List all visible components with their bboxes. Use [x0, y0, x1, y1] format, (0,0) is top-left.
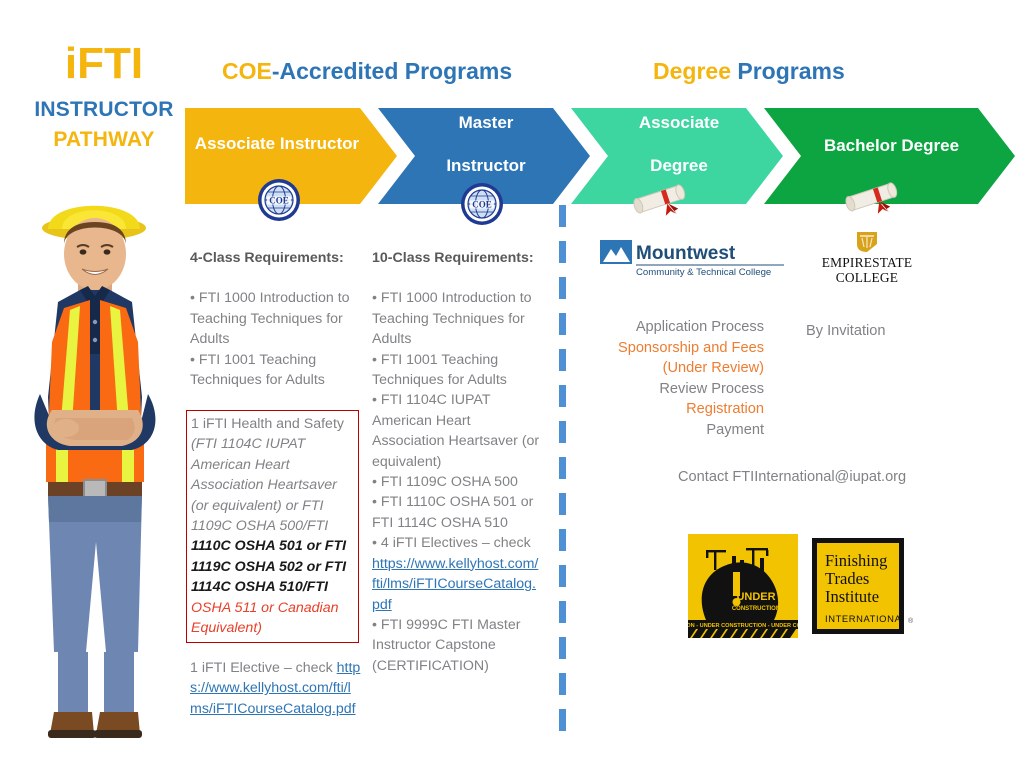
callout-red-segment: OSHA 511 or Canadian Equivalent) — [191, 600, 338, 636]
process-step: Sponsorship and Fees — [572, 338, 764, 359]
under-construction-badge: UNDER CONSTRUCTION CTION - UNDER CONSTRU… — [688, 534, 798, 638]
pathway-step-label: Associate Instructor — [189, 133, 365, 154]
process-step: (Under Review) — [572, 358, 764, 379]
section-title-coe: COE-Accredited Programs — [222, 58, 512, 85]
svg-text:COLLEGE: COLLEGE — [836, 270, 898, 285]
column-heading: 4-Class Requirements: — [190, 248, 360, 268]
brand-subtitle-instructor: INSTRUCTOR — [0, 98, 208, 122]
fti-line4: INTERNATIONAL — [825, 613, 904, 624]
course-catalog-link[interactable]: https://www.kellyhost.com/fti/lms/iFTICo… — [372, 556, 538, 613]
process-step: Payment — [572, 420, 764, 441]
svg-text:Mountwest: Mountwest — [636, 243, 736, 264]
svg-text:UNDER: UNDER — [736, 591, 775, 603]
callout-bold-segment: 1110C OSHA 501 or FTI 1119C OSHA 502 or … — [191, 538, 346, 595]
requirement-item: • FTI 1000 Introduction to Teaching Tech… — [190, 288, 360, 349]
requirement-item: • FTI 1109C OSHA 500 — [372, 472, 542, 492]
fti-line3: Institute — [825, 587, 879, 606]
column-heading: 10-Class Requirements: — [372, 248, 542, 268]
fti-line2: Trades — [825, 569, 869, 588]
finishing-trades-institute-logo: Finishing Trades Institute INTERNATIONAL — [812, 538, 904, 634]
column-4-class-requirements: 4-Class Requirements: • FTI 1000 Introdu… — [190, 248, 360, 390]
brand-title: iFTI — [0, 42, 208, 86]
svg-text:CONSTRUCTION: CONSTRUCTION — [732, 606, 780, 612]
section-title-degree-accent: Degree — [653, 58, 731, 84]
column-left-elective-note: 1 iFTI Elective – check https://www.kell… — [190, 658, 362, 719]
coe-seal-icon: COE — [460, 182, 504, 226]
svg-text:EMPIRESTATE: EMPIRESTATE — [822, 255, 912, 270]
brand-subtitle-pathway: PATHWAY — [0, 128, 208, 152]
process-step: Review Process — [572, 379, 764, 400]
diploma-scroll-icon — [842, 174, 900, 218]
svg-text:CTION - UNDER CONSTRUCTION - U: CTION - UNDER CONSTRUCTION - UNDER CONS — [688, 623, 798, 629]
requirement-item: • FTI 1104C IUPAT American Heart Associa… — [372, 390, 542, 472]
requirement-item: • FTI 9999C FTI Master Instructor Capsto… — [372, 615, 542, 676]
pathway-infographic: iFTI INSTRUCTOR PATHWAY — [0, 0, 1022, 770]
section-title-degree-rest: Programs — [731, 58, 845, 84]
pathway-step-label-line2: Instructor — [440, 155, 531, 176]
diploma-scroll-icon — [630, 176, 688, 220]
empire-state-college-logo: EMPIRESTATE COLLEGE — [812, 230, 922, 286]
degree-process-list: Application Process Sponsorship and Fees… — [572, 317, 764, 441]
svg-text:COE: COE — [472, 200, 492, 210]
vertical-dashed-divider — [559, 205, 566, 735]
section-title-coe-rest: -Accredited Programs — [272, 58, 512, 84]
electives-item: • 4 iFTI Electives – check https://www.k… — [372, 533, 542, 615]
callout-gray-italic-segment: (FTI 1104C IUPAT American Heart Associat… — [191, 436, 337, 534]
registered-trademark-mark: ® — [908, 618, 913, 625]
electives-text: • 4 iFTI Electives – check — [372, 535, 531, 551]
contact-email-text: Contact FTIInternational@iupat.org — [678, 469, 906, 485]
callout-plain-segment: 1 iFTI Health and Safety — [191, 416, 344, 432]
pathway-step-label-line1: Associate — [633, 112, 725, 133]
brand-block: iFTI INSTRUCTOR PATHWAY — [0, 42, 208, 152]
requirement-item: • FTI 1000 Introduction to Teaching Tech… — [372, 288, 542, 349]
svg-text:Community & Technical College: Community & Technical College — [636, 267, 771, 278]
mountwest-college-logo: Mountwest Community & Technical College — [600, 238, 786, 278]
section-title-coe-accent: COE — [222, 58, 272, 84]
pathway-step-label: Associate Degree — [627, 112, 731, 176]
pathway-step-label: Bachelor Degree — [818, 135, 965, 156]
pathway-step-label-line2: Degree — [633, 155, 725, 176]
svg-text:COE: COE — [269, 196, 289, 206]
fti-line1: Finishing — [825, 551, 887, 570]
section-title-degree: Degree Programs — [653, 58, 845, 85]
column-10-class-requirements: 10-Class Requirements: • FTI 1000 Introd… — [372, 248, 542, 676]
requirement-item: • FTI 1110C OSHA 501 or FTI 1114C OSHA 5… — [372, 492, 542, 533]
process-step: Registration — [572, 399, 764, 420]
requirement-item: • FTI 1001 Teaching Techniques for Adult… — [190, 350, 360, 391]
pathway-step-label-line1: Master — [440, 112, 531, 133]
coe-seal-icon: COE — [257, 178, 301, 222]
construction-worker-photo — [10, 182, 190, 758]
elective-note-text: 1 iFTI Elective – check — [190, 660, 337, 676]
requirement-item: • FTI 1001 Teaching Techniques for Adult… — [372, 350, 542, 391]
bachelor-degree-note: By Invitation — [806, 323, 886, 339]
process-step: Application Process — [572, 317, 764, 338]
pathway-step-label: Master Instructor — [434, 112, 537, 176]
health-and-safety-callout-box: 1 iFTI Health and Safety (FTI 1104C IUPA… — [186, 410, 359, 643]
